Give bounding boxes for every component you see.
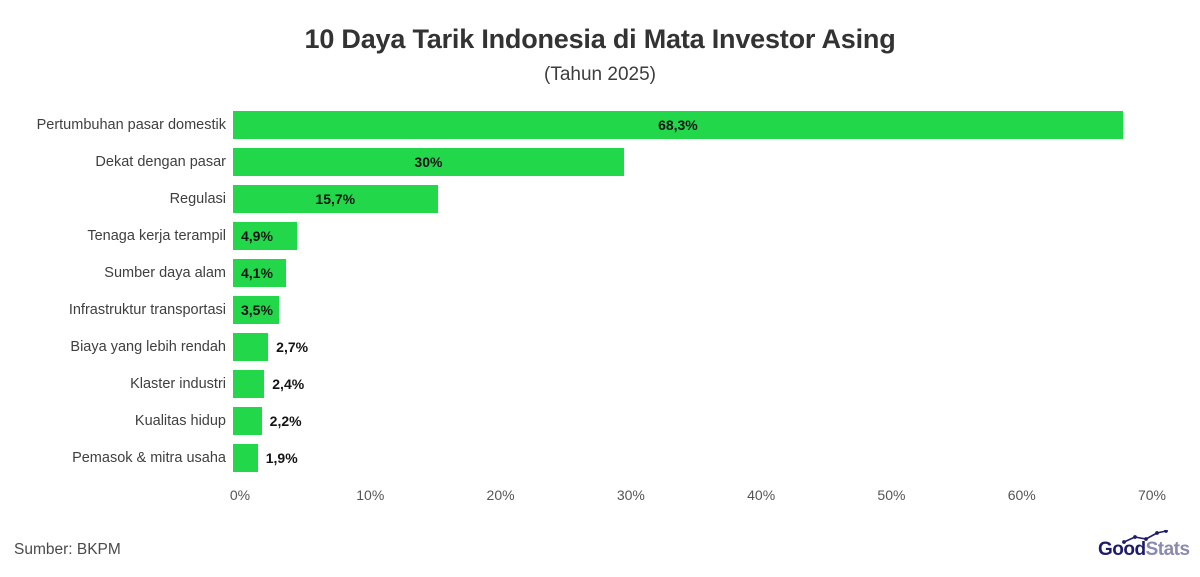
logo-stats-text: Stats — [1146, 539, 1190, 560]
chart-plot-area: Pertumbuhan pasar domestik68,3%Dekat den… — [0, 106, 1200, 486]
bar-row: Dekat dengan pasar30% — [0, 143, 1200, 180]
bar-track: 4,1% — [233, 254, 1200, 291]
page-title: 10 Daya Tarik Indonesia di Mata Investor… — [0, 24, 1200, 55]
bar-row: Tenaga kerja terampil4,9% — [0, 217, 1200, 254]
bar-list: Pertumbuhan pasar domestik68,3%Dekat den… — [0, 106, 1200, 476]
bar-value-label: 15,7% — [233, 191, 438, 207]
category-label: Pemasok & mitra usaha — [0, 450, 233, 466]
bar-track: 3,5% — [233, 291, 1200, 328]
category-label: Pertumbuhan pasar domestik — [0, 117, 233, 133]
bar-row: Pertumbuhan pasar domestik68,3% — [0, 106, 1200, 143]
bar-value-label: 2,4% — [272, 376, 304, 392]
bar[interactable]: 4,1% — [233, 259, 286, 287]
bar-value-label: 4,1% — [233, 265, 286, 281]
bar[interactable]: 15,7% — [233, 185, 438, 213]
x-axis-tick-label: 0% — [230, 487, 250, 503]
bar-track: 68,3% — [233, 106, 1200, 143]
bar[interactable] — [233, 444, 258, 472]
bar-value-label: 68,3% — [233, 117, 1123, 133]
chart-subtitle: (Tahun 2025) — [0, 64, 1200, 86]
chart-header: 10 Daya Tarik Indonesia di Mata Investor… — [0, 0, 1200, 86]
bar-track: 2,4% — [233, 365, 1200, 402]
bar-value-label: 3,5% — [233, 302, 279, 318]
category-label: Dekat dengan pasar — [0, 154, 233, 170]
chart-footer: Sumber: BKPM GoodStats — [0, 527, 1200, 561]
bar-track: 15,7% — [233, 180, 1200, 217]
logo-good-text: Good — [1098, 539, 1146, 560]
bar[interactable]: 68,3% — [233, 111, 1123, 139]
bar-track: 1,9% — [233, 439, 1200, 476]
x-axis: 0%10%20%30%40%50%60%70% — [233, 487, 1200, 517]
bar-row: Sumber daya alam4,1% — [0, 254, 1200, 291]
category-label: Sumber daya alam — [0, 265, 233, 281]
category-label: Biaya yang lebih rendah — [0, 339, 233, 355]
x-axis-tick-label: 70% — [1138, 487, 1166, 503]
bar[interactable]: 4,9% — [233, 222, 297, 250]
x-axis-tick-label: 50% — [877, 487, 905, 503]
bar-value-label: 2,2% — [270, 413, 302, 429]
bar-value-label: 30% — [233, 154, 624, 170]
bar-track: 30% — [233, 143, 1200, 180]
source-note: Sumber: BKPM — [14, 541, 121, 559]
category-label: Kualitas hidup — [0, 413, 233, 429]
bar-track: 4,9% — [233, 217, 1200, 254]
category-label: Regulasi — [0, 191, 233, 207]
bar-row: Kualitas hidup2,2% — [0, 402, 1200, 439]
x-axis-tick-label: 30% — [617, 487, 645, 503]
bar-value-label: 4,9% — [233, 228, 297, 244]
bar-row: Infrastruktur transportasi3,5% — [0, 291, 1200, 328]
logo-mark: GoodStats — [1098, 531, 1190, 561]
bar-row: Regulasi15,7% — [0, 180, 1200, 217]
category-label: Infrastruktur transportasi — [0, 302, 233, 318]
bar-value-label: 2,7% — [276, 339, 308, 355]
x-axis-tick-label: 40% — [747, 487, 775, 503]
bar[interactable] — [233, 407, 262, 435]
x-axis-tick-label: 60% — [1008, 487, 1036, 503]
x-axis-tick-label: 10% — [356, 487, 384, 503]
category-label: Tenaga kerja terampil — [0, 228, 233, 244]
bar-row: Biaya yang lebih rendah2,7% — [0, 328, 1200, 365]
bar-value-label: 1,9% — [266, 450, 298, 466]
bar-row: Klaster industri2,4% — [0, 365, 1200, 402]
bar[interactable]: 30% — [233, 148, 624, 176]
bar[interactable] — [233, 370, 264, 398]
x-axis-tick-label: 20% — [487, 487, 515, 503]
bar[interactable]: 3,5% — [233, 296, 279, 324]
logo-wordmark: GoodStats — [1098, 539, 1190, 561]
bar-track: 2,2% — [233, 402, 1200, 439]
bar[interactable] — [233, 333, 268, 361]
goodstats-logo: GoodStats — [1098, 531, 1190, 561]
bar-row: Pemasok & mitra usaha1,9% — [0, 439, 1200, 476]
bar-track: 2,7% — [233, 328, 1200, 365]
category-label: Klaster industri — [0, 376, 233, 392]
